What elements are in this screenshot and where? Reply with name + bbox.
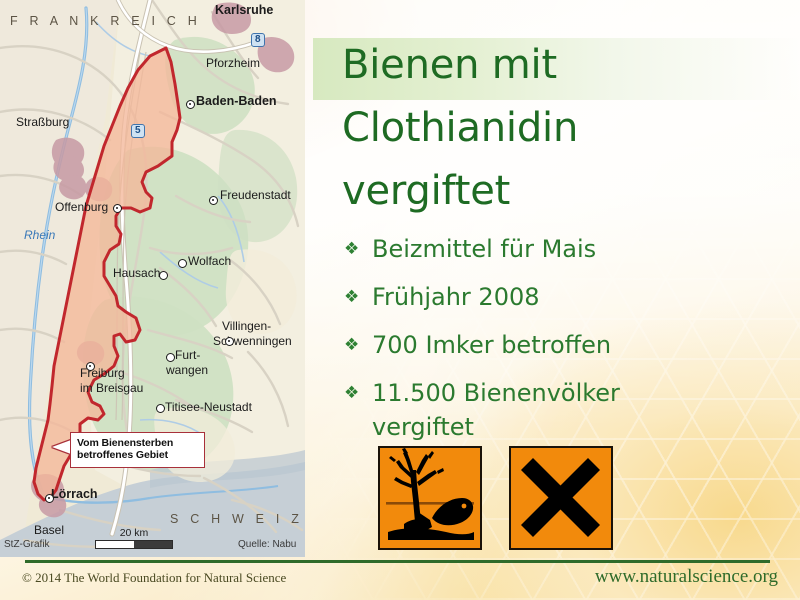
map-city-dot	[156, 404, 165, 413]
map-label: Furt-	[175, 348, 200, 362]
map-label: Pforzheim	[206, 56, 260, 70]
scale-bar-graphic	[95, 540, 173, 549]
bullet-text: 11.500 Bienenvölker vergiftet	[372, 376, 644, 444]
footer-divider	[25, 560, 770, 563]
map-label: Basel	[34, 523, 64, 537]
map-label: Karlsruhe	[215, 3, 273, 17]
map-label: Wolfach	[188, 254, 231, 268]
bullet-text: Beizmittel für Mais	[372, 232, 596, 266]
map-scale-bar: 20 km	[95, 527, 173, 549]
title-line-2: Clothianidin	[342, 97, 782, 160]
copyright-text: © 2014 The World Foundation for Natural …	[22, 570, 286, 586]
hazard-pictogram-row	[378, 446, 613, 550]
map-label: Offenburg	[55, 200, 108, 214]
list-item: ❖ Beizmittel für Mais	[336, 232, 776, 266]
map-city-dot	[45, 494, 54, 503]
bullet-diamond-icon: ❖	[336, 328, 372, 362]
title-line-3: vergiftet	[342, 160, 782, 223]
list-item: ❖ Frühjahr 2008	[336, 280, 776, 314]
map-city-dot	[186, 100, 195, 109]
callout-line-1: Vom Bienensterben	[77, 437, 199, 449]
map-label: Lörrach	[51, 487, 98, 501]
bullet-text: 700 Imker betroffen	[372, 328, 611, 362]
bullet-diamond-icon: ❖	[336, 376, 372, 410]
bullet-diamond-icon: ❖	[336, 280, 372, 314]
slide-title: Bienen mit Clothianidin vergiftet	[342, 34, 782, 223]
map-label: F R A N K R E I C H	[10, 14, 201, 28]
list-item: ❖ 11.500 Bienenvölker vergiftet	[336, 376, 776, 444]
map-label: Hausach	[113, 266, 160, 280]
map-credit-left: StZ-Grafik	[4, 539, 50, 550]
list-item: ❖ 700 Imker betroffen	[336, 328, 776, 362]
title-line-1: Bienen mit	[342, 34, 782, 97]
map-label: Titisee-Neustadt	[165, 400, 252, 414]
callout-pointer	[52, 440, 71, 454]
map-city-dot	[159, 271, 168, 280]
map-city-dot	[166, 353, 175, 362]
bullet-diamond-icon: ❖	[336, 232, 372, 266]
map-germany-baden: Vom Bienensterben betroffenes Gebiet 20 …	[0, 0, 305, 557]
map-city-dot	[209, 196, 218, 205]
bullet-list: ❖ Beizmittel für Mais ❖ Frühjahr 2008 ❖ …	[336, 232, 776, 458]
callout-line-2: betroffenes Gebiet	[77, 449, 199, 461]
map-label: Freudenstadt	[220, 188, 291, 202]
motorway-shield-icon: 8	[251, 33, 265, 47]
map-city-dot	[225, 337, 234, 346]
map-label: wangen	[166, 363, 208, 377]
slide-root: Vom Bienensterben betroffenes Gebiet 20 …	[0, 0, 800, 600]
map-credit-right: Quelle: Nabu	[238, 539, 296, 550]
map-city-dot	[113, 204, 122, 213]
map-label: im Breisgau	[80, 381, 143, 395]
harmful-irritant-icon	[509, 446, 613, 550]
environmentally-hazardous-icon	[378, 446, 482, 550]
scale-label: 20 km	[95, 527, 173, 539]
map-label: Rhein	[24, 228, 55, 242]
website-link[interactable]: www.naturalscience.org	[595, 566, 778, 588]
map-city-dot	[178, 259, 187, 268]
map-label: Villingen-	[222, 319, 271, 333]
map-label: S C H W E I Z	[170, 512, 303, 526]
map-label: Straßburg	[16, 115, 69, 129]
map-callout: Vom Bienensterben betroffenes Gebiet	[70, 432, 205, 468]
map-city-dot	[86, 362, 95, 371]
bullet-text: Frühjahr 2008	[372, 280, 540, 314]
motorway-shield-icon: 5	[131, 124, 145, 138]
map-label: Baden-Baden	[196, 94, 277, 108]
